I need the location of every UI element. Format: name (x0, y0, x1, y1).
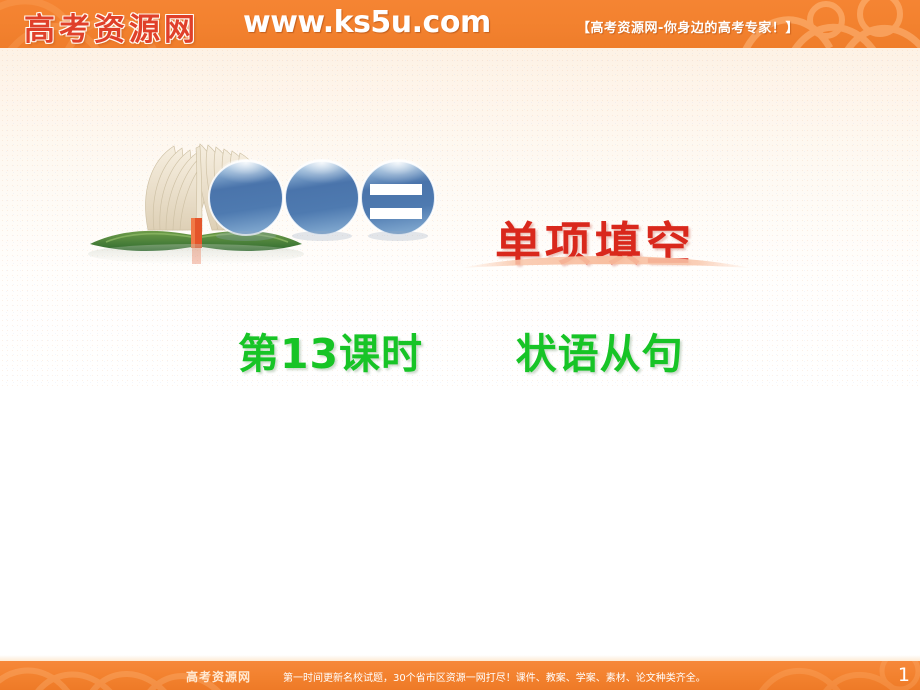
footer-note-text: 第一时间更新名校试题，30个省市区资源一网打尽！课件、教案、学案、素材、论文种类… (283, 669, 706, 684)
lesson-subtitle: 第13课时 状语从句 (238, 320, 684, 380)
bottom-banner: 高考资源网 第一时间更新名校试题，30个省市区资源一网打尽！课件、教案、学案、素… (0, 661, 920, 690)
lesson-topic-label: 状语从句 (516, 330, 684, 378)
site-logo-text[interactable]: 高考资源网 (24, 4, 199, 48)
page-number: 1 (886, 661, 910, 690)
site-tagline: 【高考资源网-你身边的高考专家！】 (577, 17, 799, 36)
slide-canvas: 高考资源网 www.ks5u.com 【高考资源网-你身边的高考专家！】 (0, 0, 920, 690)
title-underline-swoosh (462, 252, 750, 278)
site-url-text[interactable]: www.ks5u.com (243, 5, 491, 40)
blue-circle-equals (361, 159, 435, 241)
hero-artwork (70, 130, 460, 270)
blue-circle-2 (285, 159, 359, 241)
lesson-number-label: 第13课时 (238, 330, 423, 378)
footer-brand-text: 高考资源网 (186, 668, 251, 685)
top-banner: 高考资源网 www.ks5u.com 【高考资源网-你身边的高考专家！】 (0, 0, 920, 48)
